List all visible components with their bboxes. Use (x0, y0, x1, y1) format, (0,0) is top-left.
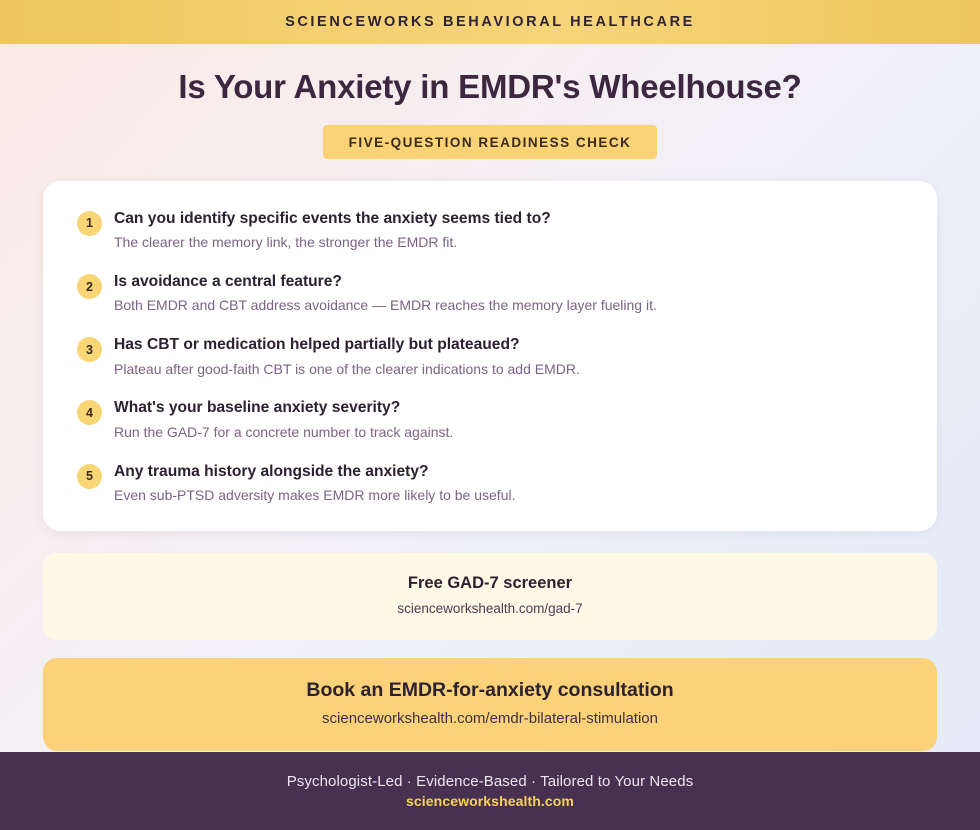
question-item: 5 Any trauma history alongside the anxie… (77, 462, 903, 505)
question-body: Can you identify specific events the anx… (114, 209, 903, 252)
main-content: 1 Can you identify specific events the a… (0, 159, 980, 752)
question-number-badge: 1 (77, 211, 102, 236)
footer-tagline: Psychologist-Led · Evidence-Based · Tail… (287, 773, 694, 790)
question-body: What's your baseline anxiety severity? R… (114, 398, 903, 441)
question-title: What's your baseline anxiety severity? (114, 398, 903, 418)
question-subtitle: The clearer the memory link, the stronge… (114, 233, 903, 252)
question-subtitle: Run the GAD-7 for a concrete number to t… (114, 423, 903, 442)
question-item: 4 What's your baseline anxiety severity?… (77, 398, 903, 441)
book-consultation-url[interactable]: scienceworkshealth.com/emdr-bilateral-st… (67, 709, 913, 729)
book-consultation-title: Book an EMDR-for-anxiety consultation (67, 678, 913, 702)
question-title: Is avoidance a central feature? (114, 272, 903, 292)
questions-card: 1 Can you identify specific events the a… (43, 181, 937, 531)
page-title: Is Your Anxiety in EMDR's Wheelhouse? (40, 68, 940, 107)
question-number-badge: 4 (77, 400, 102, 425)
gad7-screener-cta[interactable]: Free GAD-7 screener scienceworkshealth.c… (43, 553, 937, 640)
footer-website-link[interactable]: scienceworkshealth.com (406, 793, 574, 809)
footer: Psychologist-Led · Evidence-Based · Tail… (0, 752, 980, 830)
question-title: Can you identify specific events the anx… (114, 209, 903, 229)
brand-bar-label: SCIENCEWORKS BEHAVIORAL HEALTHCARE (285, 14, 695, 30)
question-item: 1 Can you identify specific events the a… (77, 209, 903, 252)
question-title: Has CBT or medication helped partially b… (114, 335, 903, 355)
gad7-screener-title: Free GAD-7 screener (67, 573, 913, 594)
question-item: 3 Has CBT or medication helped partially… (77, 335, 903, 378)
hero-pill-container: FIVE-QUESTION READINESS CHECK (40, 125, 940, 159)
question-body: Any trauma history alongside the anxiety… (114, 462, 903, 505)
poster-root: SCIENCEWORKS BEHAVIORAL HEALTHCARE Is Yo… (0, 0, 980, 830)
question-subtitle: Plateau after good-faith CBT is one of t… (114, 360, 903, 379)
book-consultation-cta[interactable]: Book an EMDR-for-anxiety consultation sc… (43, 658, 937, 751)
question-item: 2 Is avoidance a central feature? Both E… (77, 272, 903, 315)
readiness-check-badge: FIVE-QUESTION READINESS CHECK (323, 125, 658, 159)
question-number-badge: 3 (77, 337, 102, 362)
question-title: Any trauma history alongside the anxiety… (114, 462, 903, 482)
brand-bar: SCIENCEWORKS BEHAVIORAL HEALTHCARE (0, 0, 980, 44)
question-subtitle: Even sub-PTSD adversity makes EMDR more … (114, 486, 903, 505)
question-body: Is avoidance a central feature? Both EMD… (114, 272, 903, 315)
question-number-badge: 5 (77, 464, 102, 489)
question-subtitle: Both EMDR and CBT address avoidance — EM… (114, 296, 903, 315)
question-number-badge: 2 (77, 274, 102, 299)
hero-section: Is Your Anxiety in EMDR's Wheelhouse? FI… (0, 44, 980, 159)
question-body: Has CBT or medication helped partially b… (114, 335, 903, 378)
gad7-screener-url[interactable]: scienceworkshealth.com/gad-7 (67, 600, 913, 618)
